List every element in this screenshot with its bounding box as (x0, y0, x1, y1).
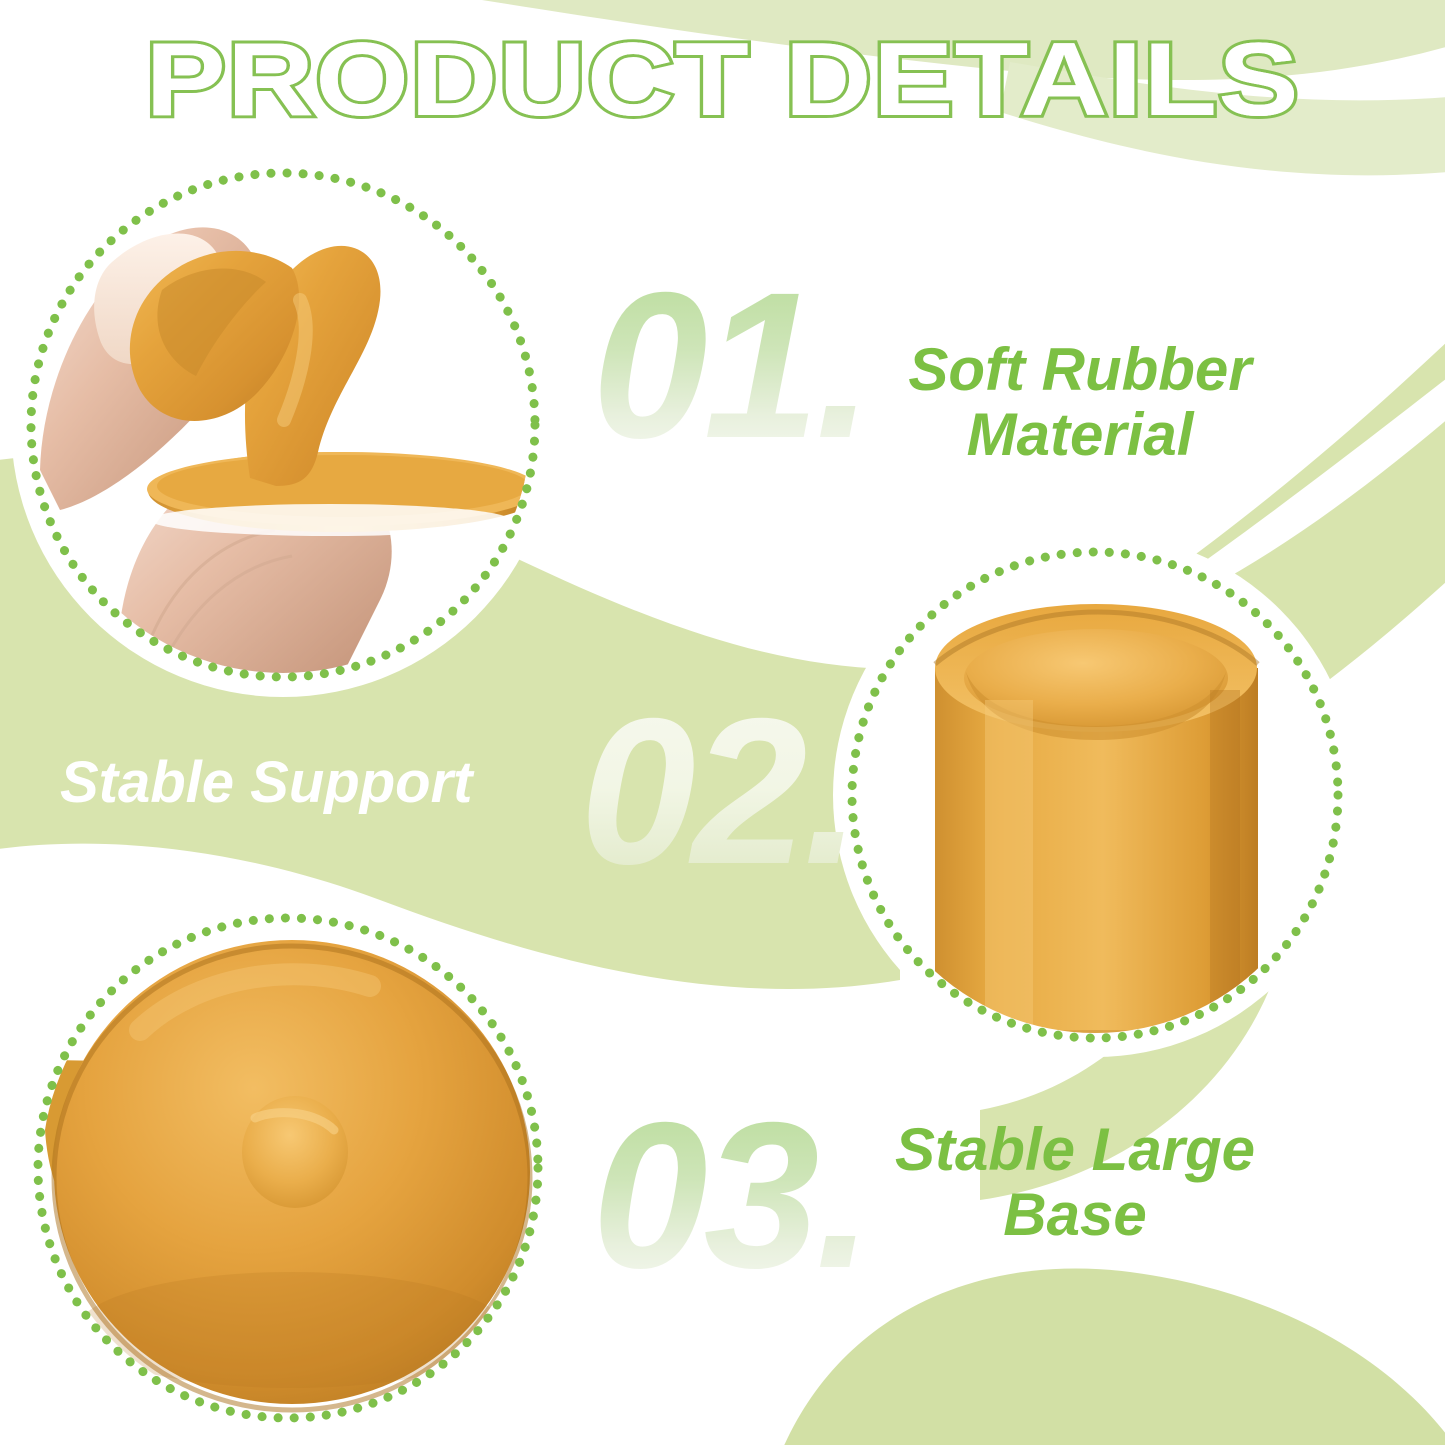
feature-label-stable-support: Stable Support (60, 752, 560, 815)
feature-label-stable-large-base: Stable Large Base (855, 1118, 1295, 1248)
product-details-infographic: PRODUCT DETAILS PRODUCT DETAILS 01. 02. … (0, 0, 1445, 1445)
page-title-outline: PRODUCT DETAILS (0, 28, 1445, 132)
step-number-02: 02. (580, 688, 857, 896)
photo-plate-1 (11, 153, 555, 697)
step-number-03: 03. (592, 1092, 869, 1300)
photo-plate-3 (18, 898, 558, 1438)
feature-label-soft-rubber-material: Soft Rubber Material (860, 338, 1300, 468)
page-title-stroke: PRODUCT DETAILS (145, 28, 1300, 132)
photo-plate-2 (833, 533, 1357, 1057)
step-number-01: 01. (592, 262, 869, 470)
